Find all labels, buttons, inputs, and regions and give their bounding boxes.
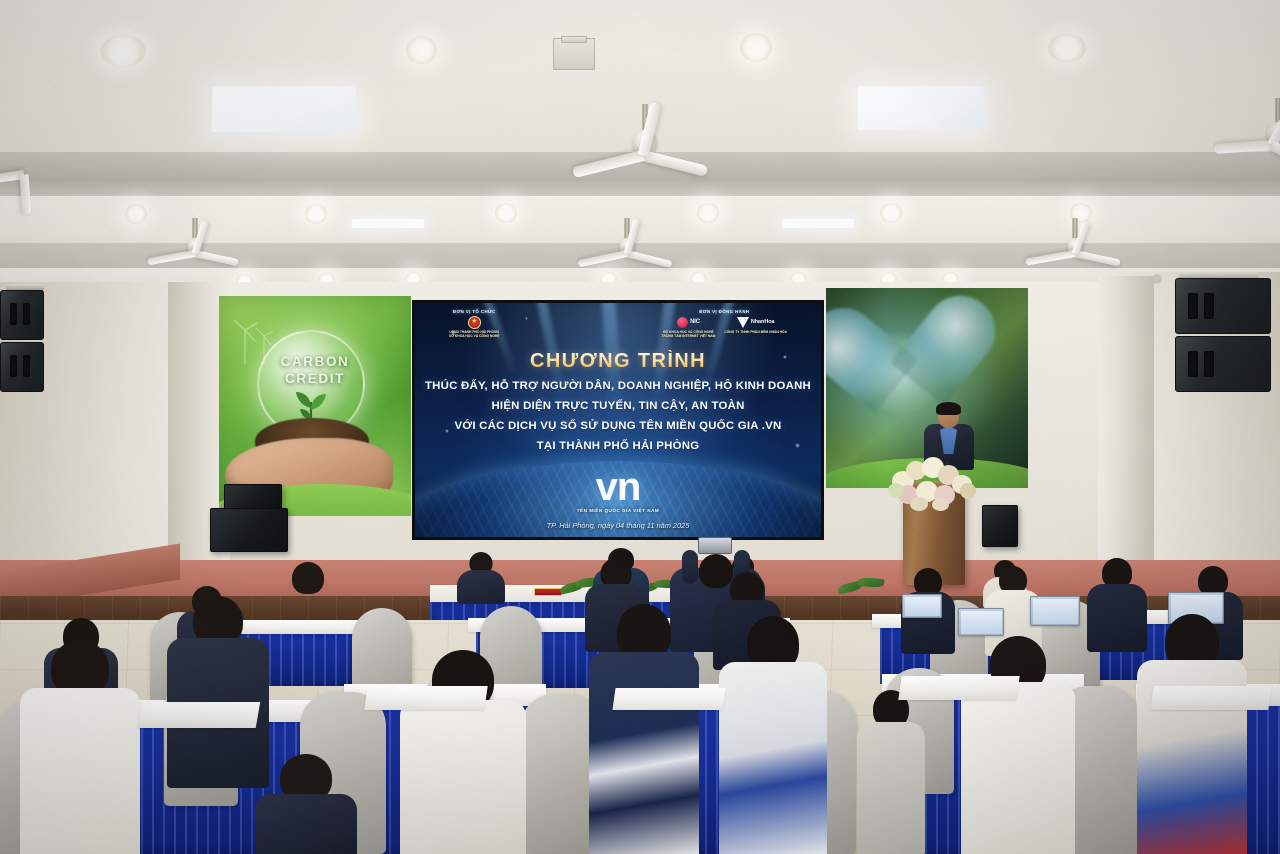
presenter-hair: [936, 402, 961, 415]
downlight: [100, 35, 146, 67]
audience-member: [856, 690, 926, 854]
audience-member: [274, 562, 342, 658]
nhanhoa-mark-icon: [737, 317, 749, 328]
panel-light: [212, 86, 357, 132]
laptop-screen: [1033, 599, 1078, 624]
slide-subtitle-line-2: HIỆN DIỆN TRỰC TUYẾN, TIN CẬY, AN TOÀN: [415, 400, 821, 412]
downlight: [697, 203, 719, 223]
paper-sheet: [898, 676, 1019, 700]
downlight: [740, 33, 772, 62]
audience-member: [960, 636, 1076, 854]
laptop-screen: [961, 611, 1002, 634]
person-body: [719, 662, 827, 854]
partner2-name: NhanHoa: [751, 319, 775, 325]
carbon-credit-line1: CARBON: [219, 354, 411, 371]
vn-logo-word: vn: [596, 467, 641, 507]
stage-monitor-speaker: [982, 505, 1018, 547]
ceiling-mount-plate: [561, 36, 587, 43]
organizer-caption: UBND THÀNH PHỐ HẢI PHÒNGSỞ KHOA HỌC VÀ C…: [449, 330, 500, 339]
partner1-caption: BỘ KHOA HỌC VÀ CÔNG NGHỆTRUNG TÂM INTERN…: [662, 330, 716, 339]
partner-header: ĐƠN VỊ ĐỒNG HÀNH: [662, 309, 787, 314]
downlight: [406, 36, 437, 64]
audience-member: [400, 650, 526, 854]
person-body: [400, 700, 526, 854]
person-body: [961, 682, 1075, 854]
slide-logo-row: ĐƠN VỊ TỔ CHỨC UBND THÀNH PHỐ HẢI PHÒNGS…: [415, 309, 821, 338]
strip-light: [352, 219, 424, 228]
slide-title: CHƯƠNG TRÌNH: [415, 350, 821, 373]
laptop[interactable]: [958, 608, 1004, 636]
slide-subtitle-line-3: VỚI CÁC DỊCH VỤ SỐ SỬ DỤNG TÊN MIỀN QUỐC…: [415, 420, 821, 432]
downlight: [1048, 34, 1086, 62]
carbon-credit-line2: CREDIT: [219, 371, 411, 388]
partner2-caption: CÔNG TY TNHH PHẦN MỀM NHÂN HÒA: [724, 330, 787, 334]
person-body: [275, 589, 341, 659]
raised-arm-left: [682, 550, 698, 584]
stage-monitor-speaker: [210, 508, 288, 552]
carbon-credit-text: CARBON CREDIT: [219, 354, 411, 388]
audience-member: [254, 754, 358, 854]
downlight: [495, 203, 517, 223]
ceiling-fan: [1160, 98, 1280, 178]
ceiling-fan: [1010, 218, 1140, 278]
slide-subtitle-line-1: THÚC ĐẨY, HỖ TRỢ NGƯỜI DÂN, DOANH NGHIỆP…: [415, 380, 821, 392]
organizer-header: ĐƠN VỊ TỔ CHỨC: [449, 309, 500, 314]
downlight: [880, 203, 902, 223]
ceiling-fan: [562, 218, 692, 278]
vnnic-globe-icon: [677, 317, 688, 328]
name-plate: [534, 588, 562, 596]
laptop[interactable]: [902, 594, 942, 618]
person-body: [20, 688, 140, 854]
stage-monitor-speaker: [224, 484, 282, 510]
conference-hall-photo: CARBON CREDIT ĐƠN VỊ TỔ CHỨC UBND THÀNH …: [0, 0, 1280, 854]
laptop[interactable]: [1030, 596, 1080, 626]
flower-arrangement: [884, 455, 982, 511]
person-body: [589, 652, 699, 854]
audience-member: [588, 604, 700, 854]
strip-light: [782, 219, 854, 228]
smartphone[interactable]: [698, 537, 732, 554]
partner1-name: NIC: [690, 319, 700, 325]
paper-sheet: [138, 702, 261, 728]
line-array-speaker-right: [1175, 278, 1275, 408]
table-plant: [838, 575, 894, 597]
downlight: [305, 204, 327, 224]
laptop-screen: [905, 597, 940, 616]
audience-member: [1136, 614, 1248, 854]
organizer-logo-group: ĐƠN VỊ TỔ CHỨC UBND THÀNH PHỐ HẢI PHÒNGS…: [449, 309, 500, 338]
person-body: [255, 794, 357, 854]
ceiling-fan: [555, 104, 735, 184]
slide-subtitle-line-4: TẠI THÀNH PHỐ HẢI PHÒNG: [415, 440, 821, 452]
paper-sheet: [364, 686, 487, 710]
slide-footer-date: TP. Hải Phòng, ngày 04 tháng 11 năm 2025: [415, 521, 821, 530]
national-emblem-icon: [468, 316, 481, 329]
vn-domain-logo: vn TÊN MIỀN QUỐC GIA VIỆT NAM: [415, 467, 821, 513]
security-camera: [1152, 274, 1162, 284]
partner-logo-group: ĐƠN VỊ ĐỒNG HÀNH NIC BỘ KHOA HỌC VÀ CÔNG…: [662, 309, 787, 338]
panel-light: [858, 86, 985, 130]
person-body: [457, 570, 505, 604]
paper-sheet: [612, 688, 725, 710]
person-body: [857, 722, 925, 854]
ceiling-fan: [135, 218, 255, 278]
seated-person-on-stage: [456, 552, 506, 602]
carbon-credit-banner: CARBON CREDIT: [219, 296, 411, 516]
audience-member: [20, 640, 140, 854]
led-presentation-screen: ĐƠN VỊ TỔ CHỨC UBND THÀNH PHỐ HẢI PHÒNGS…: [412, 300, 824, 540]
paper-sheet: [1150, 686, 1271, 710]
audience-member: [718, 616, 828, 854]
line-array-speaker-left: [0, 288, 46, 398]
ceiling-fan: [0, 150, 100, 210]
